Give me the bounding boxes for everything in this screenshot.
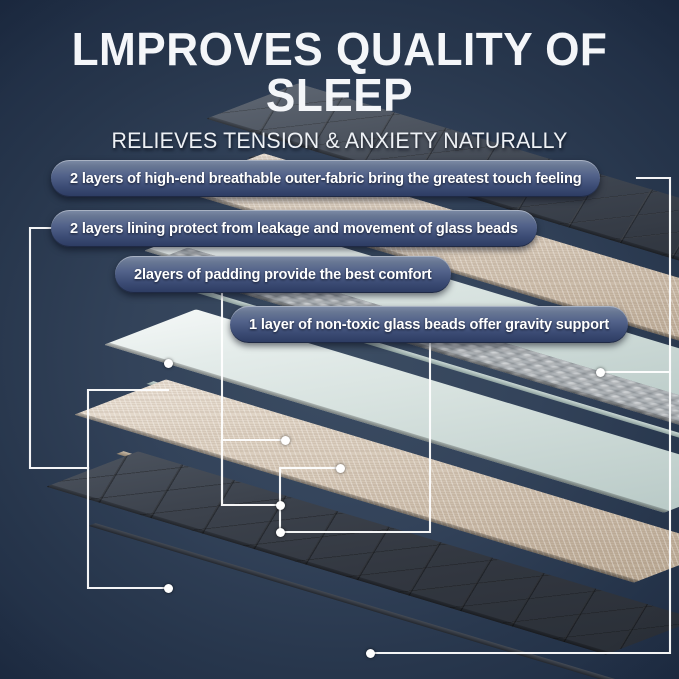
connector-dot-lining-bottom [164, 584, 173, 593]
connector-dot-outer-fabric-bottom [366, 649, 375, 658]
callout-label: 2 layers lining protect from leakage and… [70, 221, 518, 237]
connector-dot-lining-top [164, 359, 173, 368]
page-subtitle: RELIEVES TENSION & ANXIETY NATURALLY [10, 128, 669, 154]
callout-outer-fabric[interactable]: 2 layers of high-end breathable outer-fa… [51, 160, 600, 197]
callout-label: 2 layers of high-end breathable outer-fa… [70, 171, 581, 187]
callout-padding[interactable]: 2layers of padding provide the best comf… [115, 256, 451, 293]
callout-glass-beads[interactable]: 1 layer of non-toxic glass beads offer g… [230, 306, 628, 343]
callout-label: 2layers of padding provide the best comf… [134, 267, 432, 283]
connector-dot-outer-fabric-top [596, 368, 605, 377]
connector-dot-beads-bottom [276, 528, 285, 537]
header: LMPROVES QUALITY OF SLEEP RELIEVES TENSI… [0, 0, 679, 154]
connector-dot-beads-top [336, 464, 345, 473]
page-title: LMPROVES QUALITY OF SLEEP [14, 26, 666, 118]
infographic-canvas: LMPROVES QUALITY OF SLEEP RELIEVES TENSI… [0, 0, 679, 679]
layer-outer-fabric-bottom [92, 494, 652, 614]
connector-dot-padding-bottom [276, 501, 285, 510]
callout-lining[interactable]: 2 layers lining protect from leakage and… [51, 210, 537, 247]
callout-label: 1 layer of non-toxic glass beads offer g… [249, 317, 609, 333]
connector-dot-padding-top [281, 436, 290, 445]
